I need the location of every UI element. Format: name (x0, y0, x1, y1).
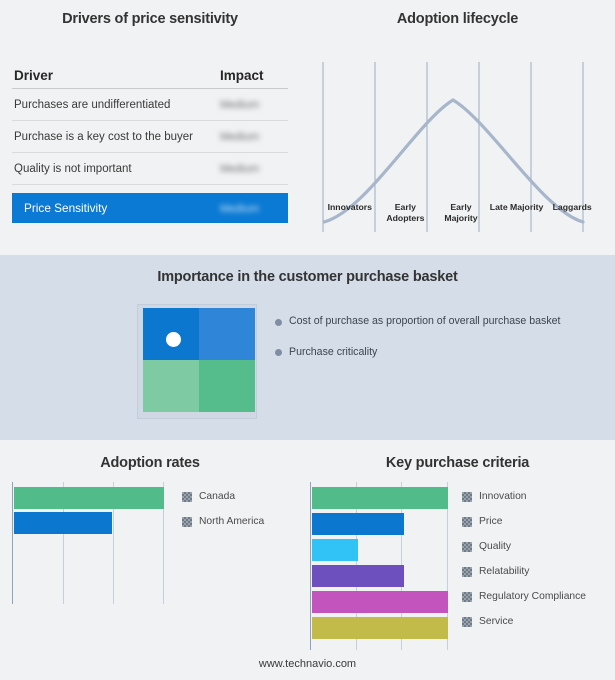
impact-value-blurred: Medium (220, 131, 259, 143)
legend-label: Purchase criticality (289, 346, 377, 360)
legend-label: Regulatory Compliance (479, 591, 586, 602)
quadrant-matrix-frame (137, 304, 257, 419)
lifecycle-stage-early-adopters: Early Adopters (378, 202, 434, 223)
legend-label: Service (479, 616, 513, 627)
cell-impact: Medium (220, 163, 282, 175)
legend-item-north-america: North America (182, 509, 264, 534)
lifecycle-panel: Adoption lifecycle Innovators Early Adop… (300, 0, 615, 255)
table-row[interactable]: Quality is not important Medium (12, 153, 288, 185)
legend-swatch-icon (182, 517, 192, 527)
bottom-section: Adoption rates Key purchase criteria Can… (0, 440, 615, 680)
table-row[interactable]: Purchases are undifferentiated Medium (12, 89, 288, 121)
key-purchase-criteria-title: Key purchase criteria (300, 455, 615, 471)
legend-item-price: Price (462, 509, 586, 534)
legend-item-relatability: Relatability (462, 559, 586, 584)
legend-swatch-icon (462, 617, 472, 627)
cell-impact: Medium (220, 201, 282, 215)
quadrant-cell-top-right[interactable] (199, 308, 255, 360)
lifecycle-stage-innovators: Innovators (322, 202, 378, 223)
top-section: Drivers of price sensitivity Driver Impa… (0, 0, 615, 255)
legend-item-cost-of-purchase: Cost of purchase as proportion of overal… (275, 315, 595, 329)
legend-label: Relatability (479, 566, 529, 577)
bar-north-america[interactable] (14, 512, 112, 534)
legend-label: Cost of purchase as proportion of overal… (289, 315, 560, 329)
position-marker-dot (166, 332, 181, 347)
lifecycle-chart-title: Adoption lifecycle (300, 11, 615, 27)
legend-swatch-icon (462, 492, 472, 502)
criteria-legend: Innovation Price Quality Relatability Re… (462, 484, 586, 634)
adoption-rates-chart: Canada North America (12, 482, 302, 607)
adoption-legend: Canada North America (182, 484, 264, 534)
table-row-highlighted-price-sensitivity[interactable]: Price Sensitivity Medium (12, 193, 288, 223)
legend-item-regulatory-compliance: Regulatory Compliance (462, 584, 586, 609)
legend-swatch-icon (462, 592, 472, 602)
legend-item-service: Service (462, 609, 586, 634)
legend-item-innovation: Innovation (462, 484, 586, 509)
bar-relatability[interactable] (312, 565, 404, 587)
bar-service[interactable] (312, 617, 448, 639)
cell-impact: Medium (220, 99, 282, 111)
key-purchase-criteria-chart: Innovation Price Quality Relatability Re… (310, 482, 610, 652)
adoption-plot-area (12, 482, 163, 604)
lifecycle-stage-early-majority: Early Majority (433, 202, 489, 223)
legend-label: Price (479, 516, 502, 527)
legend-item-purchase-criticality: Purchase criticality (275, 346, 595, 360)
table-header-row: Driver Impact (12, 62, 288, 89)
impact-value-blurred: Medium (220, 203, 259, 215)
lifecycle-stage-laggards: Laggards (544, 202, 600, 223)
legend-swatch-icon (182, 492, 192, 502)
bar-regulatory-compliance[interactable] (312, 591, 448, 613)
footer-url[interactable]: www.technavio.com (0, 658, 615, 670)
purchase-basket-title: Importance in the customer purchase bask… (0, 269, 615, 285)
cell-driver: Purchase is a key cost to the buyer (14, 131, 220, 143)
legend-label: Canada (199, 491, 235, 502)
bullet-icon (275, 349, 282, 356)
legend-label: North America (199, 516, 264, 527)
impact-value-blurred: Medium (220, 99, 259, 111)
purchase-basket-legend: Cost of purchase as proportion of overal… (275, 315, 595, 376)
adoption-rates-title: Adoption rates (0, 455, 300, 471)
drivers-table: Driver Impact Purchases are undifferenti… (12, 62, 288, 223)
quadrant-cell-bottom-left[interactable] (143, 360, 199, 412)
cell-driver: Quality is not important (14, 163, 220, 175)
bar-quality[interactable] (312, 539, 358, 561)
purchase-basket-section: Importance in the customer purchase bask… (0, 255, 615, 440)
impact-value-blurred: Medium (220, 163, 259, 175)
legend-label: Quality (479, 541, 511, 552)
bar-canada[interactable] (14, 487, 164, 509)
lifecycle-stage-labels: Innovators Early Adopters Early Majority… (322, 202, 600, 223)
legend-item-quality: Quality (462, 534, 586, 559)
legend-item-canada: Canada (182, 484, 264, 509)
legend-label: Innovation (479, 491, 527, 502)
quadrant-matrix (143, 308, 255, 412)
table-row[interactable]: Purchase is a key cost to the buyer Medi… (12, 121, 288, 153)
drivers-panel: Drivers of price sensitivity Driver Impa… (0, 0, 300, 255)
page-title: Drivers of price sensitivity (0, 11, 300, 27)
column-header-impact: Impact (220, 68, 282, 83)
legend-swatch-icon (462, 567, 472, 577)
cell-driver: Price Sensitivity (24, 201, 220, 215)
bar-innovation[interactable] (312, 487, 448, 509)
legend-swatch-icon (462, 517, 472, 527)
legend-swatch-icon (462, 542, 472, 552)
cell-driver: Purchases are undifferentiated (14, 99, 220, 111)
cell-impact: Medium (220, 131, 282, 143)
bullet-icon (275, 319, 282, 326)
criteria-plot-area (310, 482, 447, 650)
lifecycle-stage-late-majority: Late Majority (489, 202, 545, 223)
quadrant-cell-bottom-right[interactable] (199, 360, 255, 412)
bar-price[interactable] (312, 513, 404, 535)
column-header-driver: Driver (14, 68, 220, 83)
